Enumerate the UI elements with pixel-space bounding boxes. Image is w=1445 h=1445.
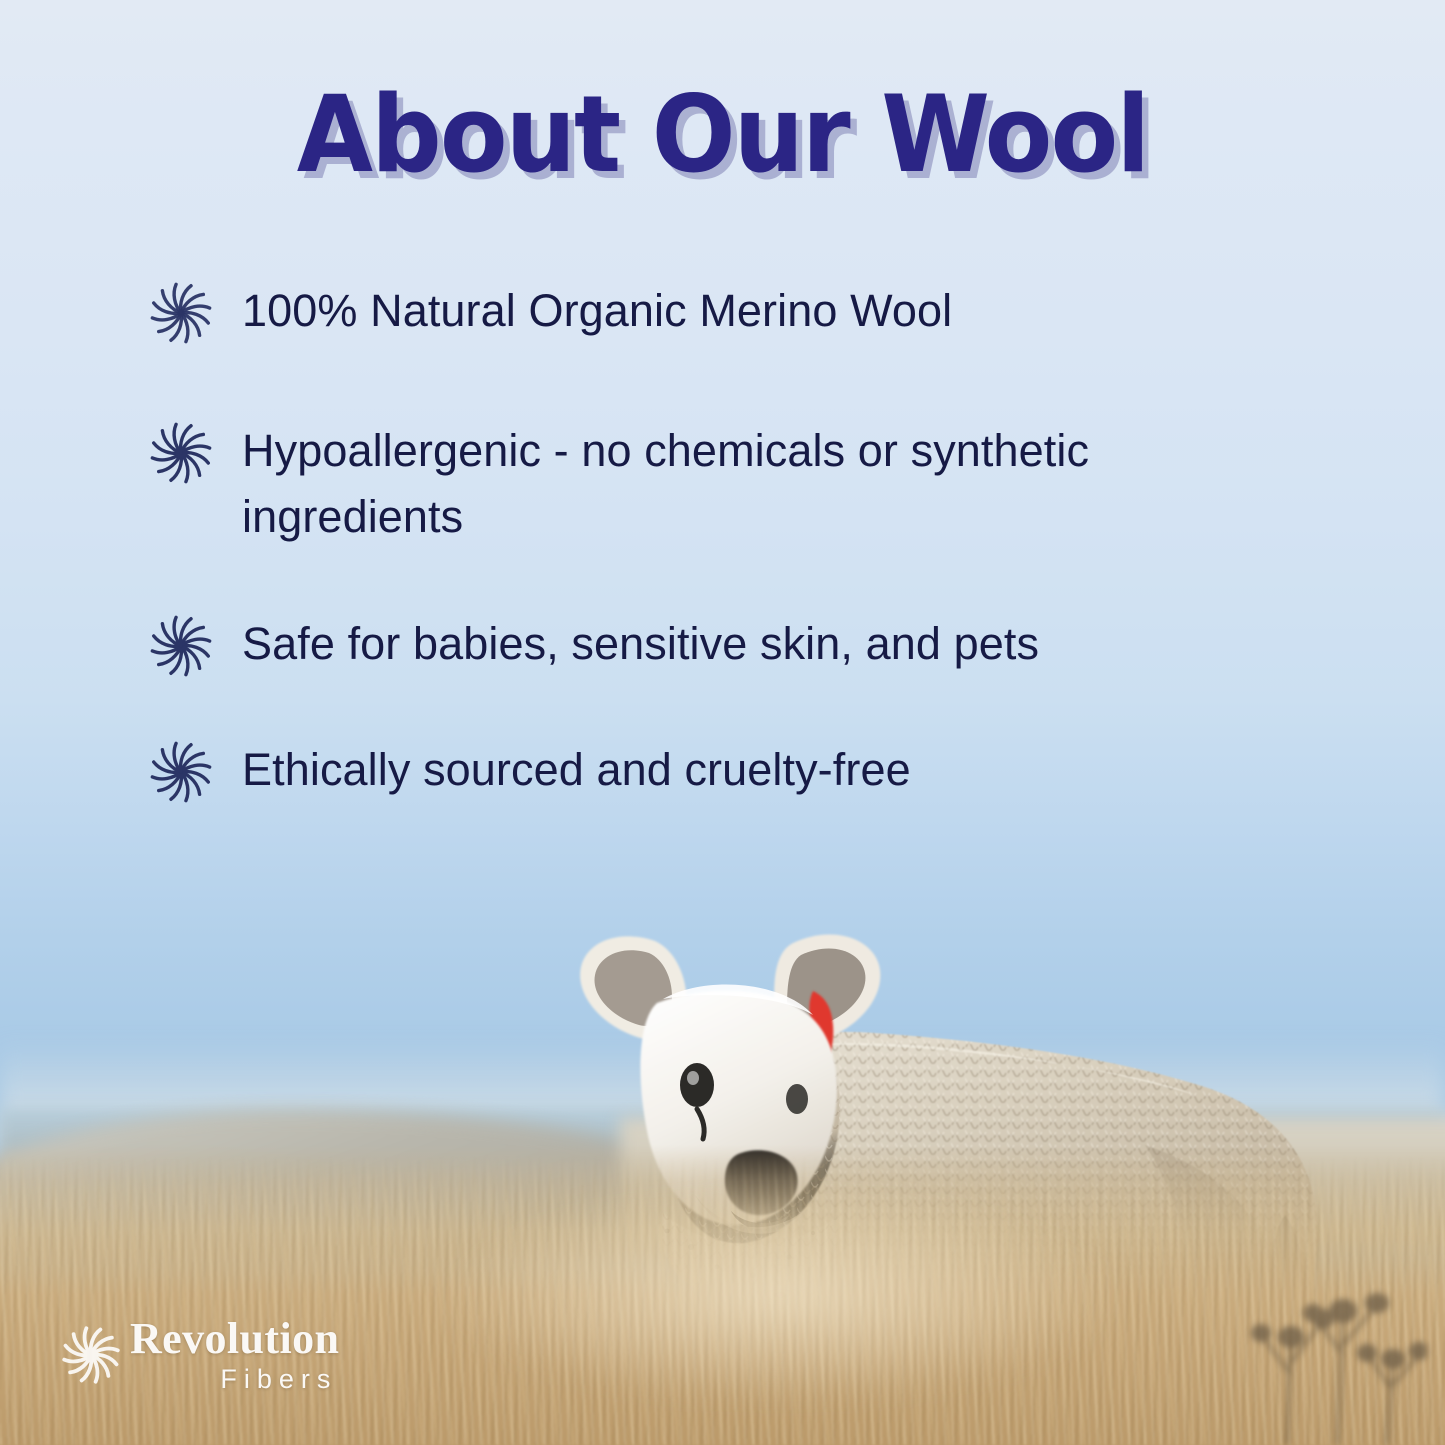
logo-primary-text: Revolution xyxy=(130,1317,339,1361)
logo-wordmark: Revolution Fibers xyxy=(130,1317,339,1393)
grass-highlight xyxy=(430,1185,1130,1405)
list-item: Safe for babies, sensitive skin, and pet… xyxy=(150,611,1290,677)
thistle-bush xyxy=(1217,1245,1427,1445)
fiber-swirl-icon xyxy=(150,741,212,803)
list-item-label: Safe for babies, sensitive skin, and pet… xyxy=(242,611,1290,677)
list-item-label: Ethically sourced and cruelty-free xyxy=(242,737,1290,803)
sheep-eye-left xyxy=(680,1063,714,1107)
feature-list: 100% Natural Organic Merino Wool xyxy=(150,278,1290,803)
list-item-label: Hypoallergenic - no chemicals or synthet… xyxy=(242,418,1242,549)
fiber-swirl-icon xyxy=(150,282,212,344)
sheep-eye-right xyxy=(786,1084,808,1114)
about-our-wool-infographic: About Our Wool 10 xyxy=(0,0,1445,1445)
logo-secondary-text: Fibers xyxy=(130,1366,337,1393)
list-item: Ethically sourced and cruelty-free xyxy=(150,737,1290,803)
list-item: Hypoallergenic - no chemicals or synthet… xyxy=(150,418,1290,549)
fiber-swirl-icon xyxy=(150,422,212,484)
fiber-swirl-icon xyxy=(62,1326,120,1384)
page-title: About Our Wool xyxy=(51,82,1395,188)
fiber-swirl-icon xyxy=(150,615,212,677)
brand-logo: Revolution Fibers xyxy=(62,1317,339,1393)
list-item-label: 100% Natural Organic Merino Wool xyxy=(242,278,1290,344)
list-item: 100% Natural Organic Merino Wool xyxy=(150,278,1290,344)
